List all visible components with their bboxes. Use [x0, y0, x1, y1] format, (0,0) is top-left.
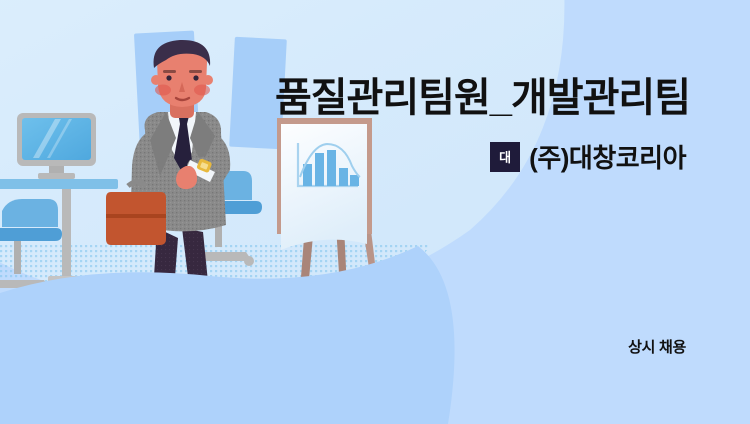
monitor-base — [38, 173, 75, 179]
company-row[interactable]: 대 (주)대창코리아 — [490, 138, 686, 175]
eyebrow-right — [189, 70, 202, 73]
chart-bar-3 — [327, 150, 336, 186]
chair-back-wheel — [244, 256, 254, 266]
desk-leg — [62, 189, 71, 279]
briefcase-divider — [106, 214, 166, 218]
eyebrow-left — [163, 70, 176, 73]
company-logo-badge: 대 — [490, 142, 520, 172]
chart-bar-4 — [339, 168, 348, 186]
chart-bar-5 — [350, 175, 359, 186]
chair-front-seat — [0, 228, 62, 241]
desk-top — [0, 179, 118, 189]
job-posting-banner: 품질관리팀원_개발관리팀 대 (주)대창코리아 상시 채용 — [0, 0, 750, 424]
company-name: (주)대창코리아 — [529, 138, 686, 175]
chart-bar-2 — [315, 153, 324, 186]
office-illustration — [0, 0, 750, 424]
chair-front-back — [2, 199, 58, 227]
briefcase — [106, 192, 166, 245]
job-title: 품질관리팀원_개발관리팀 — [0, 76, 690, 121]
hiring-status-label: 상시 채용 — [628, 336, 686, 357]
chair-front-post — [14, 241, 21, 274]
